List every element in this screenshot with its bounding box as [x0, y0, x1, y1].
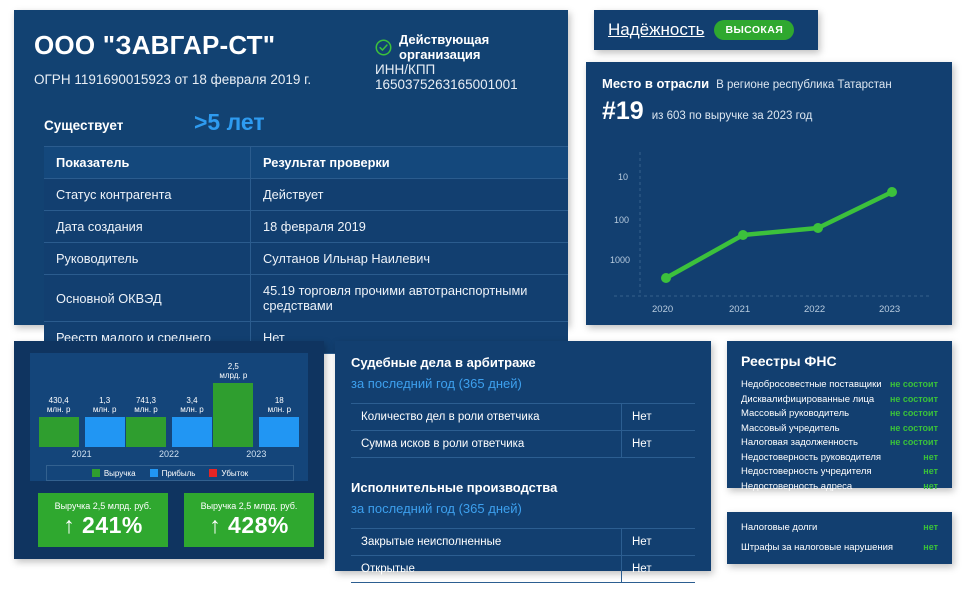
list-item: Массовый учредитель не состоит — [741, 423, 938, 434]
enforcement-title: Исполнительные производства — [351, 480, 557, 495]
table-row: Руководитель Султанов Ильнар Наилевич — [44, 243, 568, 275]
growth-badge-revenue-2: Выручка 2,5 млрд. руб. ↑ 428% — [184, 493, 314, 547]
list-item: Налоговые долги нет — [741, 522, 938, 533]
legend-item-loss: Убыток — [209, 469, 248, 478]
fns-value: не состоит — [890, 379, 938, 389]
list-item: Недостоверность учредителя нет — [741, 466, 938, 477]
bar-col-profit-2021: 1,3 млн. р — [85, 396, 125, 447]
tax-value: нет — [923, 522, 938, 532]
x-tick-label: 2021 — [38, 449, 125, 459]
bar-chart-legend: Выручка Прибыль Убыток — [46, 465, 294, 481]
growth-value: ↑ 241% — [63, 512, 143, 539]
status-label: Действующая организация — [399, 32, 568, 62]
fns-value: не состоит — [890, 394, 938, 404]
company-age-label: Существует — [44, 118, 194, 133]
x-tick-label: 2022 — [125, 449, 212, 459]
dashboard-page: ООО "ЗАВГАР-СТ" ОГРН 1191690015923 от 18… — [0, 0, 965, 589]
y-tick-label: 10 — [618, 172, 628, 182]
bar-chart-x-axis: 2021 2022 2023 — [38, 449, 300, 459]
list-item: Дисквалифицированные лица не состоит — [741, 394, 938, 405]
bar-rect-revenue — [39, 417, 79, 447]
legend-item-profit: Прибыль — [150, 469, 196, 478]
rank-title: Место в отрасли — [602, 76, 709, 91]
table-cell-key: Открытые — [351, 556, 622, 583]
bar-col-profit-2022: 3,4 млн. р — [172, 396, 212, 447]
bar-value-label: 18 млн. р — [268, 396, 291, 414]
bar-rect-profit — [172, 417, 212, 447]
bar-value-label: 1,3 млн. р — [93, 396, 116, 414]
reliability-badge: ВЫСОКАЯ — [714, 20, 794, 40]
bar-value-label: 2,5 млрд. р — [219, 362, 247, 380]
x-tick-label: 2021 — [729, 304, 750, 315]
fns-key: Массовый руководитель — [741, 408, 849, 419]
rank-line-chart: 10 100 1000 2020 2021 2022 2023 — [596, 148, 942, 316]
table-cell-value: Нет — [622, 404, 696, 431]
fns-key: Массовый учредитель — [741, 423, 840, 434]
fns-registries-card: Реестры ФНС Недобросовестные поставщики … — [727, 341, 952, 488]
arbitration-header: Судебные дела в арбитраже за последний г… — [351, 355, 695, 391]
list-item: Недостоверность адреса нет — [741, 481, 938, 492]
fns-value: нет — [923, 466, 938, 476]
tax-key: Штрафы за налоговые нарушения — [741, 542, 893, 553]
legend-swatch-icon — [92, 469, 100, 477]
financials-card: 430,4 млн. р 1,3 млн. р 741,3 млн. р 3,4 — [14, 341, 324, 559]
table-cell-key: Руководитель — [44, 243, 251, 275]
data-point — [887, 187, 897, 197]
table-row: Закрытые неисполненные Нет — [351, 529, 695, 556]
data-point — [661, 273, 671, 283]
checks-table-body: Статус контрагента Действует Дата создан… — [44, 179, 568, 354]
bar-chart-plot: 430,4 млн. р 1,3 млн. р 741,3 млн. р 3,4 — [38, 361, 300, 447]
tax-value: нет — [923, 542, 938, 552]
company-summary-card: ООО "ЗАВГАР-СТ" ОГРН 1191690015923 от 18… — [14, 10, 568, 325]
industry-rank-card: Место в отрасли В регионе республика Тат… — [586, 62, 952, 325]
company-age-row: Существует >5 лет — [44, 109, 344, 136]
fns-key: Недобросовестные поставщики — [741, 379, 882, 390]
bar-col-revenue-2022: 741,3 млн. р — [126, 396, 166, 447]
growth-caption: Выручка 2,5 млрд. руб. — [55, 501, 152, 511]
fns-key: Налоговая задолженность — [741, 437, 858, 448]
table-cell-value: Нет — [622, 556, 696, 583]
bar-rect-revenue — [213, 383, 253, 447]
rank-subtitle: В регионе республика Татарстан — [716, 79, 892, 91]
enforcement-header: Исполнительные производства за последний… — [351, 480, 695, 516]
tax-key: Налоговые долги — [741, 522, 817, 533]
bar-rect-profit — [85, 417, 125, 447]
y-tick-label: 100 — [614, 215, 629, 225]
x-tick-label: 2023 — [879, 304, 900, 315]
reliability-header: Надёжность ВЫСОКАЯ — [594, 10, 818, 50]
growth-badge-revenue-1: Выручка 2,5 млрд. руб. ↑ 241% — [38, 493, 168, 547]
status-badge: Действующая организация — [375, 32, 568, 62]
reliability-title[interactable]: Надёжность — [608, 20, 704, 40]
fns-value: нет — [923, 481, 938, 491]
bar-group-2023: 2,5 млрд. р 18 млн. р — [213, 362, 300, 447]
table-row: Открытые Нет — [351, 556, 695, 583]
table-row: Основной ОКВЭД 45.19 торговля прочими ав… — [44, 275, 568, 322]
table-row: Дата создания 18 февраля 2019 — [44, 211, 568, 243]
fns-title: Реестры ФНС — [741, 353, 938, 369]
table-cell-key: Количество дел в роли ответчика — [351, 404, 622, 431]
bar-chart-panel: 430,4 млн. р 1,3 млн. р 741,3 млн. р 3,4 — [30, 353, 308, 481]
fns-key: Недостоверность учредителя — [741, 466, 872, 477]
table-header-result: Результат проверки — [251, 147, 569, 179]
legend-swatch-icon — [150, 469, 158, 477]
bar-rect-revenue — [126, 417, 166, 447]
arbitration-title: Судебные дела в арбитраже — [351, 355, 536, 370]
bar-group-2022: 741,3 млн. р 3,4 млн. р — [125, 396, 212, 447]
fns-value: не состоит — [890, 423, 938, 433]
list-item: Массовый руководитель не состоит — [741, 408, 938, 419]
growth-percent: 428% — [228, 512, 289, 538]
x-tick-label: 2023 — [213, 449, 300, 459]
table-row: Количество дел в роли ответчика Нет — [351, 404, 695, 431]
data-point — [738, 230, 748, 240]
legend-swatch-icon — [209, 469, 217, 477]
growth-value: ↑ 428% — [209, 512, 289, 539]
checks-table: Показатель Результат проверки Статус кон… — [44, 146, 568, 354]
table-cell-value: Султанов Ильнар Наилевич — [251, 243, 569, 275]
check-circle-icon — [375, 39, 392, 56]
table-cell-key: Дата создания — [44, 211, 251, 243]
rank-value-row: #19 из 603 по выручке за 2023 год — [602, 97, 936, 126]
growth-percent: 241% — [82, 512, 143, 538]
table-header-row: Показатель Результат проверки — [44, 147, 568, 179]
company-inn-kpp: ИНН/КПП 1650375263165001001 — [375, 62, 568, 92]
legend-label: Выручка — [104, 469, 136, 478]
arbitration-table: Количество дел в роли ответчика Нет Сумм… — [351, 403, 695, 458]
data-point — [813, 223, 823, 233]
growth-caption: Выручка 2,5 млрд. руб. — [201, 501, 298, 511]
table-row: Сумма исков в роли ответчика Нет — [351, 431, 695, 458]
table-cell-value: Действует — [251, 179, 569, 211]
table-cell-key: Закрытые неисполненные — [351, 529, 622, 556]
rank-number: #19 — [602, 97, 644, 126]
legend-label: Убыток — [221, 469, 248, 478]
table-row: Статус контрагента Действует — [44, 179, 568, 211]
table-cell-value: Нет — [622, 431, 696, 458]
enforcement-table: Закрытые неисполненные Нет Открытые Нет — [351, 528, 695, 583]
list-item: Штрафы за налоговые нарушения нет — [741, 542, 938, 553]
fns-value: нет — [923, 452, 938, 462]
bar-value-label: 741,3 млн. р — [134, 396, 157, 414]
rank-series-line — [666, 192, 892, 278]
fns-key: Недостоверность руководителя — [741, 452, 881, 463]
arrow-up-icon: ↑ — [63, 512, 75, 538]
rank-of-text: из 603 по выручке за 2023 год — [652, 110, 813, 122]
table-cell-key: Сумма исков в роли ответчика — [351, 431, 622, 458]
bar-group-2021: 430,4 млн. р 1,3 млн. р — [38, 396, 125, 447]
bar-rect-profit — [259, 417, 299, 447]
fns-key: Недостоверность адреса — [741, 481, 852, 492]
fns-value: не состоит — [890, 437, 938, 447]
bar-col-revenue-2023: 2,5 млрд. р — [213, 362, 253, 447]
bar-value-label: 430,4 млн. р — [47, 396, 70, 414]
table-cell-value: 18 февраля 2019 — [251, 211, 569, 243]
list-item: Недобросовестные поставщики не состоит — [741, 379, 938, 390]
table-cell-value: Нет — [622, 529, 696, 556]
fns-key: Дисквалифицированные лица — [741, 394, 874, 405]
bar-col-profit-2023: 18 млн. р — [259, 396, 299, 447]
fns-value: не состоит — [890, 408, 938, 418]
list-item: Недостоверность руководителя нет — [741, 452, 938, 463]
legal-proceedings-card: Судебные дела в арбитраже за последний г… — [335, 341, 711, 571]
legend-item-revenue: Выручка — [92, 469, 136, 478]
company-age-value: >5 лет — [194, 109, 265, 136]
list-item: Налоговая задолженность не состоит — [741, 437, 938, 448]
y-tick-label: 1000 — [610, 255, 630, 265]
x-tick-label: 2020 — [652, 304, 673, 315]
tax-debts-card: Налоговые долги нет Штрафы за налоговые … — [727, 512, 952, 564]
legend-label: Прибыль — [162, 469, 196, 478]
bar-col-revenue-2021: 430,4 млн. р — [39, 396, 79, 447]
bar-value-label: 3,4 млн. р — [180, 396, 203, 414]
arrow-up-icon: ↑ — [209, 512, 221, 538]
table-cell-key: Статус контрагента — [44, 179, 251, 211]
table-header-indicator: Показатель — [44, 147, 251, 179]
arbitration-subtitle: за последний год (365 дней) — [351, 376, 522, 391]
table-cell-key: Основной ОКВЭД — [44, 275, 251, 322]
x-tick-label: 2022 — [804, 304, 825, 315]
enforcement-subtitle: за последний год (365 дней) — [351, 501, 522, 516]
table-cell-value: 45.19 торговля прочими автотранспортными… — [251, 275, 569, 322]
rank-header: Место в отрасли В регионе республика Тат… — [602, 76, 936, 91]
